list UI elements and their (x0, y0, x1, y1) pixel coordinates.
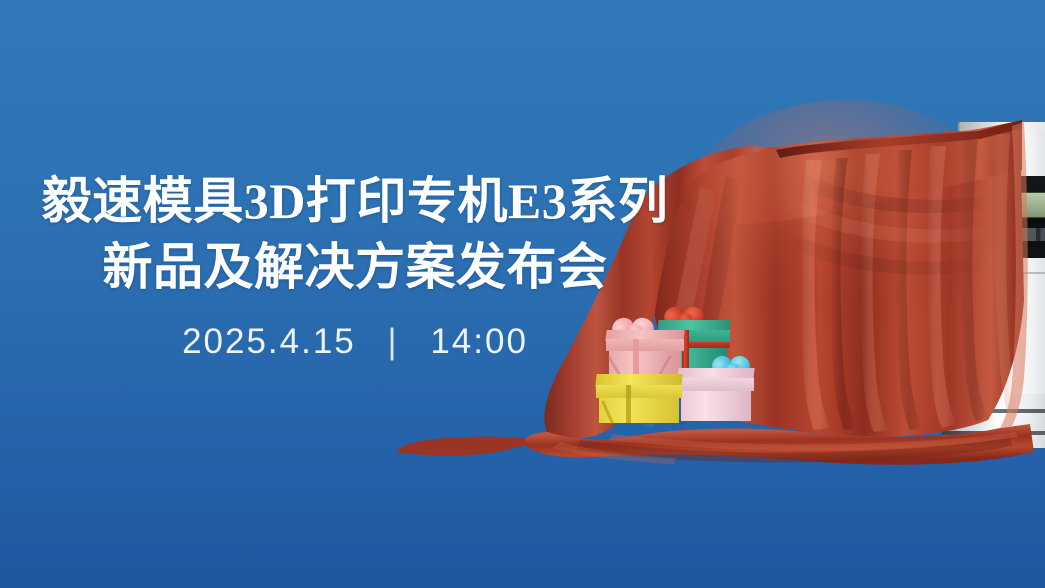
event-date: 2025.4.15 (182, 322, 356, 361)
gift-box-lavender (678, 368, 754, 422)
machine-keypad (998, 228, 1045, 241)
gift-lid-face (678, 378, 754, 391)
gift-lid-face (596, 385, 682, 398)
machine-body (958, 122, 1045, 400)
machine-seam-line (962, 272, 1045, 274)
machine-control-panel (976, 176, 1045, 258)
machine-base-slab (942, 394, 1045, 409)
headline-line-2: 新品及解决方案发布会 (0, 234, 710, 300)
gift-ribbon-vertical (626, 385, 631, 423)
machine-base-slab (942, 435, 1045, 448)
event-banner: 毅速模具3D打印专机E3系列 新品及解决方案发布会 2025.4.15 | 14… (0, 0, 1045, 588)
event-datetime-separator: | (388, 322, 399, 362)
machine-base (942, 394, 1045, 456)
gift-box-yellow (596, 374, 682, 422)
event-time: 14:00 (430, 322, 528, 361)
3d-printer-machine (958, 122, 1045, 434)
machine-base-slab (942, 413, 1045, 431)
machine-top-cap (960, 122, 1045, 132)
banner-text-block: 毅速模具3D打印专机E3系列 新品及解决方案发布会 2025.4.15 | 14… (0, 168, 710, 362)
headline-line-1: 毅速模具3D打印专机E3系列 (0, 168, 710, 234)
machine-display-screen (996, 192, 1045, 218)
event-datetime: 2025.4.15 | 14:00 (0, 322, 710, 362)
gift-body-face (681, 391, 751, 421)
drape-pool-tail (396, 437, 528, 456)
